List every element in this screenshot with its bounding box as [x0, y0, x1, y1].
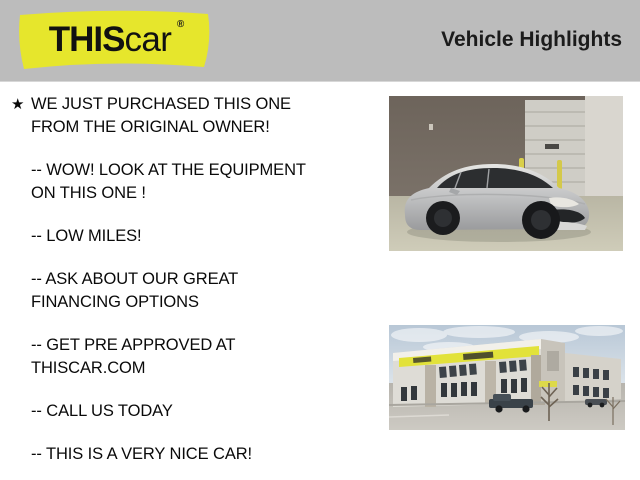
dealership-photo-graphic — [389, 325, 625, 430]
list-item: -- ASK ABOUT OUR GREAT FINANCING OPTIONS — [9, 268, 381, 314]
list-item: -- GET PRE APPROVED AT THISCAR.COM — [9, 334, 381, 380]
brand-logo[interactable]: THIScar® — [16, 7, 212, 73]
page-title: Vehicle Highlights — [441, 28, 622, 52]
list-spacer — [9, 248, 381, 268]
list-item-text: WE JUST PURCHASED THIS ONE FROM THE ORIG… — [31, 93, 381, 139]
list-item: ★ WE JUST PURCHASED THIS ONE FROM THE OR… — [9, 93, 381, 139]
list-item-text: -- LOW MILES! — [31, 225, 381, 248]
dealership-building-photo[interactable] — [389, 325, 625, 430]
list-item: -- WOW! LOOK AT THE EQUIPMENT ON THIS ON… — [9, 159, 381, 205]
header-bar: THIScar® Vehicle Highlights — [0, 0, 640, 82]
list-spacer — [9, 423, 381, 443]
content-area: ★ WE JUST PURCHASED THIS ONE FROM THE OR… — [0, 83, 640, 480]
vehicle-photo-graphic — [389, 96, 623, 251]
list-item-text: -- WOW! LOOK AT THE EQUIPMENT ON THIS ON… — [31, 159, 381, 205]
list-item-text: -- THIS IS A VERY NICE CAR! — [31, 443, 381, 466]
vehicle-highlights-list: ★ WE JUST PURCHASED THIS ONE FROM THE OR… — [9, 93, 381, 466]
silver-sedan-in-garage-photo[interactable] — [389, 96, 623, 251]
list-item-text: -- ASK ABOUT OUR GREAT FINANCING OPTIONS — [31, 268, 381, 314]
star-icon: ★ — [9, 93, 31, 116]
list-item: -- LOW MILES! — [9, 225, 381, 248]
list-spacer — [9, 139, 381, 159]
list-item-text: -- GET PRE APPROVED AT THISCAR.COM — [31, 334, 381, 380]
list-item: -- THIS IS A VERY NICE CAR! — [9, 443, 381, 466]
list-spacer — [9, 380, 381, 400]
list-spacer — [9, 205, 381, 225]
list-spacer — [9, 314, 381, 334]
list-item-text: -- CALL US TODAY — [31, 400, 381, 423]
logo-badge-shape — [16, 7, 212, 73]
list-item: -- CALL US TODAY — [9, 400, 381, 423]
